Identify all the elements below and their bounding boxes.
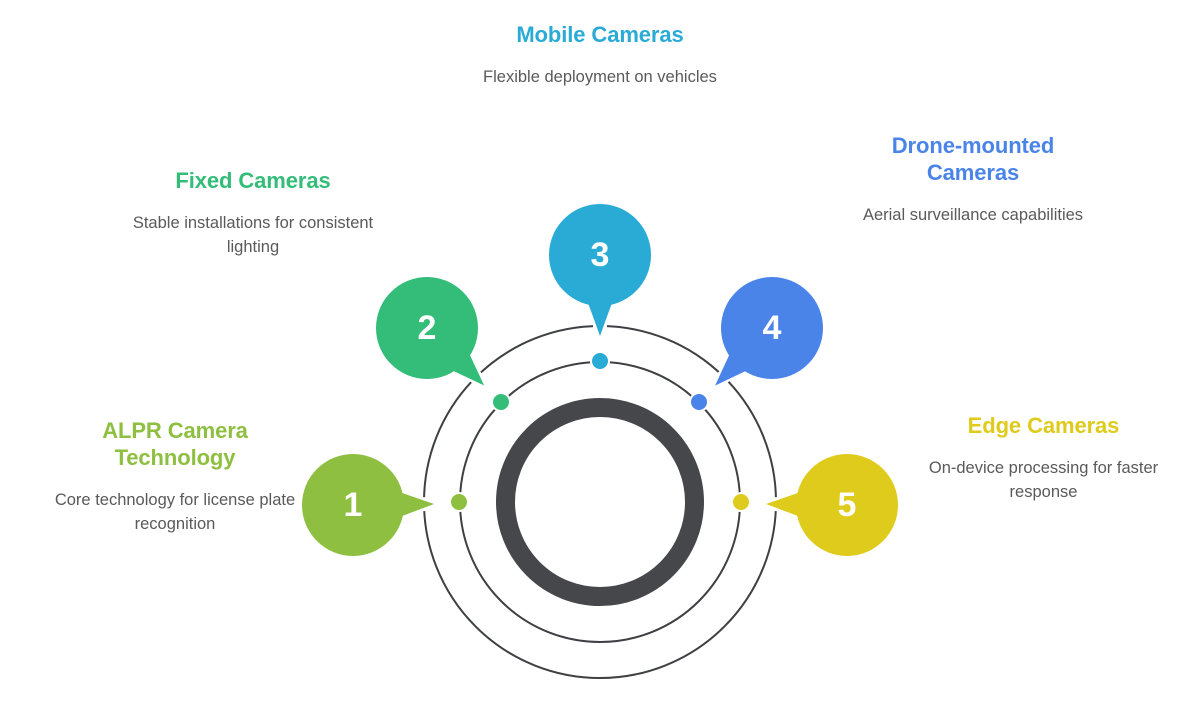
item-text-block-3: Mobile Cameras Flexible deployment on ve… [450,22,750,89]
item-description-5: On-device processing for faster response [906,456,1181,505]
center-donut [506,408,695,597]
callout-2[interactable]: 2 [376,277,484,385]
item-text-block-4: Drone-mounted Cameras Aerial surveillanc… [848,133,1098,227]
circular-ring-diagram: 12345 [0,0,1200,703]
callout-number-4: 4 [763,309,782,347]
callout-number-2: 2 [418,309,437,347]
ring-marker-dot-3[interactable] [592,353,608,369]
item-title-4: Drone-mounted Cameras [848,133,1098,187]
item-text-block-1: ALPR Camera Technology Core technology f… [40,418,310,536]
item-title-2: Fixed Cameras [118,168,388,195]
item-description-4: Aerial surveillance capabilities [848,203,1098,227]
callout-group: 12345 [302,204,898,556]
callout-number-3: 3 [591,236,610,274]
callout-1[interactable]: 1 [302,454,434,556]
item-description-3: Flexible deployment on vehicles [450,65,750,89]
callout-4[interactable]: 4 [715,277,823,386]
item-description-1: Core technology for license plate recogn… [40,488,310,537]
callout-number-1: 1 [344,486,363,524]
callout-number-5: 5 [838,486,857,524]
callout-3[interactable]: 3 [549,204,651,336]
ring-marker-dot-1[interactable] [451,494,467,510]
item-description-2: Stable installations for consistent ligh… [118,211,388,260]
callout-5[interactable]: 5 [766,454,898,556]
infographic-canvas: 12345 ALPR Camera Technology Core techno… [0,0,1200,703]
ring-marker-dot-2[interactable] [493,394,509,410]
item-text-block-2: Fixed Cameras Stable installations for c… [118,168,388,260]
item-title-1: ALPR Camera Technology [40,418,310,472]
item-title-5: Edge Cameras [906,413,1181,440]
item-text-block-5: Edge Cameras On-device processing for fa… [906,413,1181,505]
ring-marker-dot-4[interactable] [691,394,707,410]
ring-marker-dot-5[interactable] [733,494,749,510]
item-title-3: Mobile Cameras [450,22,750,49]
